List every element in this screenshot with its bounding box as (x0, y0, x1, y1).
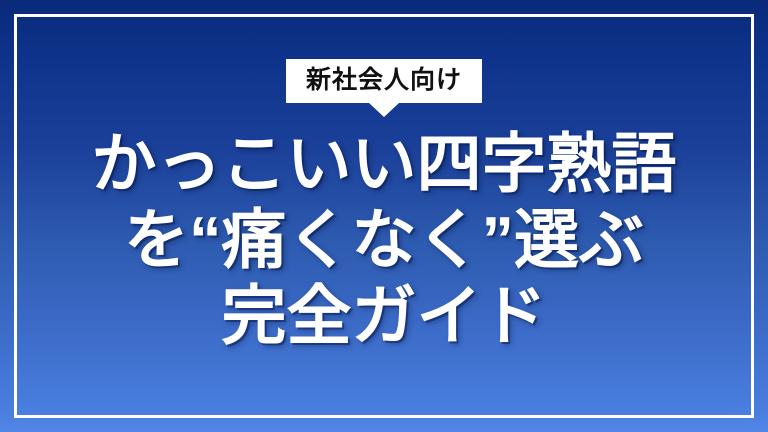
audience-badge: 新社会人向け (286, 59, 482, 103)
badge-group: 新社会人向け (0, 59, 768, 117)
title-line-1: かっこいい四字熟語 (0, 126, 768, 202)
thumbnail-canvas: 新社会人向け かっこいい四字熟語 を“痛くなく”選ぶ 完全ガイド (0, 0, 768, 432)
badge-tail-triangle-icon (369, 103, 399, 117)
page-title: かっこいい四字熟語 を“痛くなく”選ぶ 完全ガイド (0, 126, 768, 354)
title-line-3: 完全ガイド (0, 278, 768, 354)
title-line-2: を“痛くなく”選ぶ (0, 202, 768, 278)
